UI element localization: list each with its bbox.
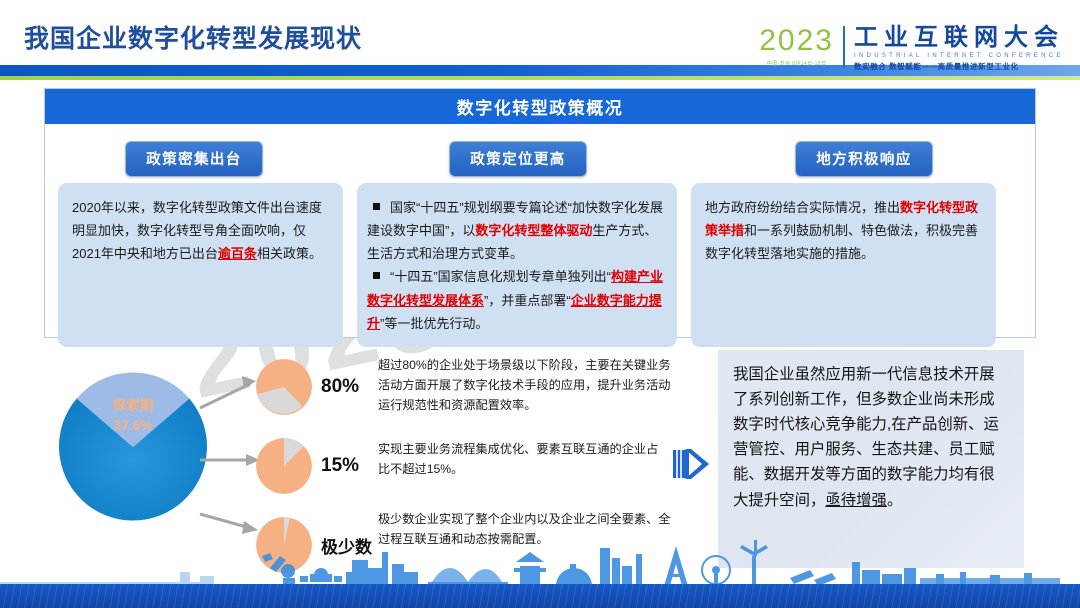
square-bullet-icon	[373, 272, 380, 279]
logo-slogan: 数实融合 数智赋能——高质量推进新型工业化	[854, 61, 1064, 72]
info-box-local-response: 地方政府纷纷结合实际情况，推出数字化转型政策举措和一系列鼓励机制、特色做法，积极…	[691, 183, 996, 347]
badge-slot-3: 地方积极响应	[692, 141, 1036, 177]
page-title: 我国企业数字化转型发展现状	[24, 19, 362, 55]
badge-policy-position[interactable]: 政策定位更高	[449, 141, 586, 177]
panel-header: 数字化转型政策概况	[45, 89, 1035, 124]
panel-header-title: 数字化转型政策概况	[457, 94, 624, 119]
info-box-2-line1-highlight: 数字化转型整体驱动	[475, 223, 592, 238]
conference-logo: 2023 中国·苏州 8月14日-18日 工业互联网大会 INDUSTRIAL …	[759, 26, 1064, 68]
info-box-2-line2-a: “十四五”国家信息化规划专章单独列出“	[390, 269, 611, 284]
info-box-2-line2-c: ”等一批优先行动。	[380, 316, 488, 331]
logo-year-block: 2023 中国·苏州 8月14日-18日	[759, 26, 843, 67]
description-80: 超过80%的企业处于场景级以下阶段，主要在关键业务活动方面开展了数字化技术手段的…	[378, 356, 678, 415]
slide: 我国企业数字化转型发展现状 2023 中国·苏州 8月14日-18日 工业互联网…	[0, 0, 1080, 608]
arrow-line-1	[200, 384, 250, 408]
badge-slot-2: 政策定位更高	[344, 141, 692, 177]
mini-row-1: 80%	[255, 348, 385, 426]
logo-name-en: INDUSTRIAL INTERNET CONFERENCE	[854, 53, 1064, 59]
mini-label-80: 80%	[321, 376, 359, 398]
info-box-policy-intensive: 2020年以来，数字化转型政策文件出台速度明显加快，数字化转型号角全面吹响，仅2…	[58, 183, 343, 347]
logo-year: 2023	[759, 26, 834, 56]
info-box-2-bullet-1: 国家“十四五”规划纲要专篇论述“加快数字化发展 建设数字中国”，以数字化转型整体…	[367, 196, 663, 265]
mini-row-2: 15%	[255, 426, 385, 506]
arrow-head-1	[242, 376, 256, 389]
info-box-2-bullet-2: “十四五”国家信息化规划专章单独列出“构建产业数字化转型发展体系”，并重点部署“…	[367, 265, 663, 334]
info-box-1-text-b: 相关政策。	[257, 246, 322, 261]
info-box-row: 2020年以来，数字化转型政策文件出台速度明显加快，数字化转型号角全面吹响，仅2…	[58, 183, 1024, 347]
bottom-band	[0, 584, 1080, 608]
arrow-line-3	[200, 514, 250, 528]
info-box-3-text-b: 和一系列鼓励机制、特色做法，积极完善数字化转型落地实施的措施。	[705, 223, 978, 261]
logo-year-subtitle: 中国·苏州 8月14日-18日	[759, 60, 834, 67]
conclusion-text-a: 我国企业虽然应用新一代信息技术开展了系列创新工作，但多数企业尚未形成数字时代核心…	[733, 366, 999, 509]
conclusion-box: 我国企业虽然应用新一代信息技术开展了系列创新工作，但多数企业尚未形成数字时代核心…	[718, 350, 1024, 568]
badge-row: 政策密集出台 政策定位更高 地方积极响应	[44, 141, 1036, 177]
mini-pie-80	[255, 358, 313, 416]
badge-policy-intensive[interactable]: 政策密集出台	[125, 141, 262, 177]
mini-pie-15	[255, 437, 313, 495]
info-box-policy-position: 国家“十四五”规划纲要专篇论述“加快数字化发展 建设数字中国”，以数字化转型整体…	[357, 183, 677, 347]
info-box-2-line2-b: ”，并重点部署“	[484, 293, 571, 308]
chevron-right-icon	[669, 440, 717, 488]
description-15: 实现主要业务流程集成优化、要素互联互通的企业占比不超过15%。	[378, 440, 670, 480]
badge-local-response[interactable]: 地方积极响应	[795, 141, 932, 177]
header-rule-white	[0, 80, 1080, 83]
city-skyline-decoration	[0, 538, 1080, 586]
logo-name-cn: 工业互联网大会	[854, 26, 1064, 50]
info-box-1-highlight: 逾百条	[218, 246, 257, 261]
conclusion-text-b: 。	[887, 492, 902, 509]
conclusion-text-underlined: 亟待增强	[825, 492, 887, 509]
logo-divider	[843, 26, 845, 68]
maturity-pie-chart	[58, 372, 208, 522]
logo-text-block: 工业互联网大会 INDUSTRIAL INTERNET CONFERENCE 数…	[854, 26, 1064, 72]
badge-slot-1: 政策密集出台	[44, 141, 344, 177]
mini-label-15: 15%	[321, 455, 359, 477]
square-bullet-icon	[373, 203, 380, 210]
info-box-3-text-a: 地方政府纷纷结合实际情况，推出	[705, 200, 900, 215]
